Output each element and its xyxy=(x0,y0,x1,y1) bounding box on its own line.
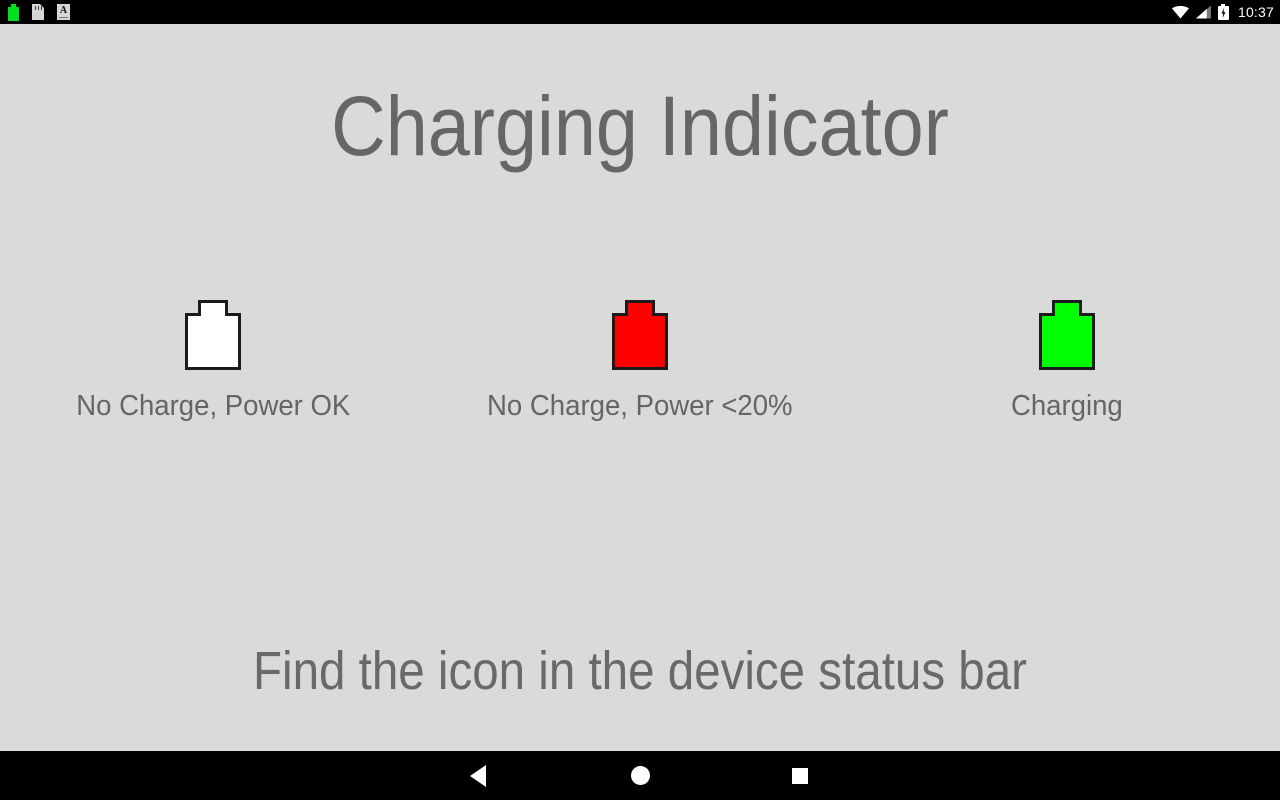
nav-back-button[interactable] xyxy=(433,751,523,800)
wifi-icon[interactable] xyxy=(1172,6,1189,19)
battery-body xyxy=(1039,313,1095,370)
status-bar-clock: 10:37 xyxy=(1238,5,1274,19)
home-circle-icon xyxy=(631,766,650,785)
sd-card-pins xyxy=(35,6,42,10)
indicator-label: No Charge, Power OK xyxy=(76,389,350,423)
nav-home-button[interactable] xyxy=(595,751,685,800)
battery-body xyxy=(8,7,19,21)
indicator-legend-row: No Charge, Power OK No Charge, Power <20… xyxy=(0,300,1280,423)
status-bar-right-icons: 10:37 xyxy=(1165,4,1274,20)
navigation-bar xyxy=(0,751,1280,800)
device-screen: A 10:37 Charging Indicator xyxy=(0,0,1280,800)
battery-joint xyxy=(1055,311,1079,316)
app-battery-notification-icon[interactable] xyxy=(8,4,19,21)
battery-joint xyxy=(628,311,652,316)
battery-body xyxy=(185,313,241,370)
app-content: Charging Indicator No Charge, Power OK N… xyxy=(0,24,1280,751)
sd-card-icon[interactable] xyxy=(32,4,44,20)
recents-square-icon xyxy=(792,768,808,784)
status-bar-left-icons: A xyxy=(8,4,83,21)
battery-white-icon xyxy=(185,300,241,370)
indicator-item-power-low: No Charge, Power <20% xyxy=(427,300,854,423)
hint-text: Find the icon in the device status bar xyxy=(77,639,1203,703)
battery-joint xyxy=(201,311,225,316)
battery-charging-icon[interactable] xyxy=(1218,4,1229,20)
a-badge-letter: A xyxy=(60,6,67,16)
back-triangle-icon xyxy=(470,765,486,787)
battery-green-icon xyxy=(1039,300,1095,370)
a-badge-icon[interactable]: A xyxy=(57,4,70,20)
page-title: Charging Indicator xyxy=(64,76,1216,176)
battery-body xyxy=(612,313,668,370)
nav-recents-button[interactable] xyxy=(755,751,845,800)
status-bar[interactable]: A 10:37 xyxy=(0,0,1280,24)
indicator-item-charging: Charging xyxy=(853,300,1280,423)
indicator-label: Charging xyxy=(1011,389,1123,423)
indicator-item-power-ok: No Charge, Power OK xyxy=(0,300,427,423)
battery-red-icon xyxy=(612,300,668,370)
cell-signal-icon[interactable] xyxy=(1196,6,1211,19)
indicator-label: No Charge, Power <20% xyxy=(487,389,793,423)
